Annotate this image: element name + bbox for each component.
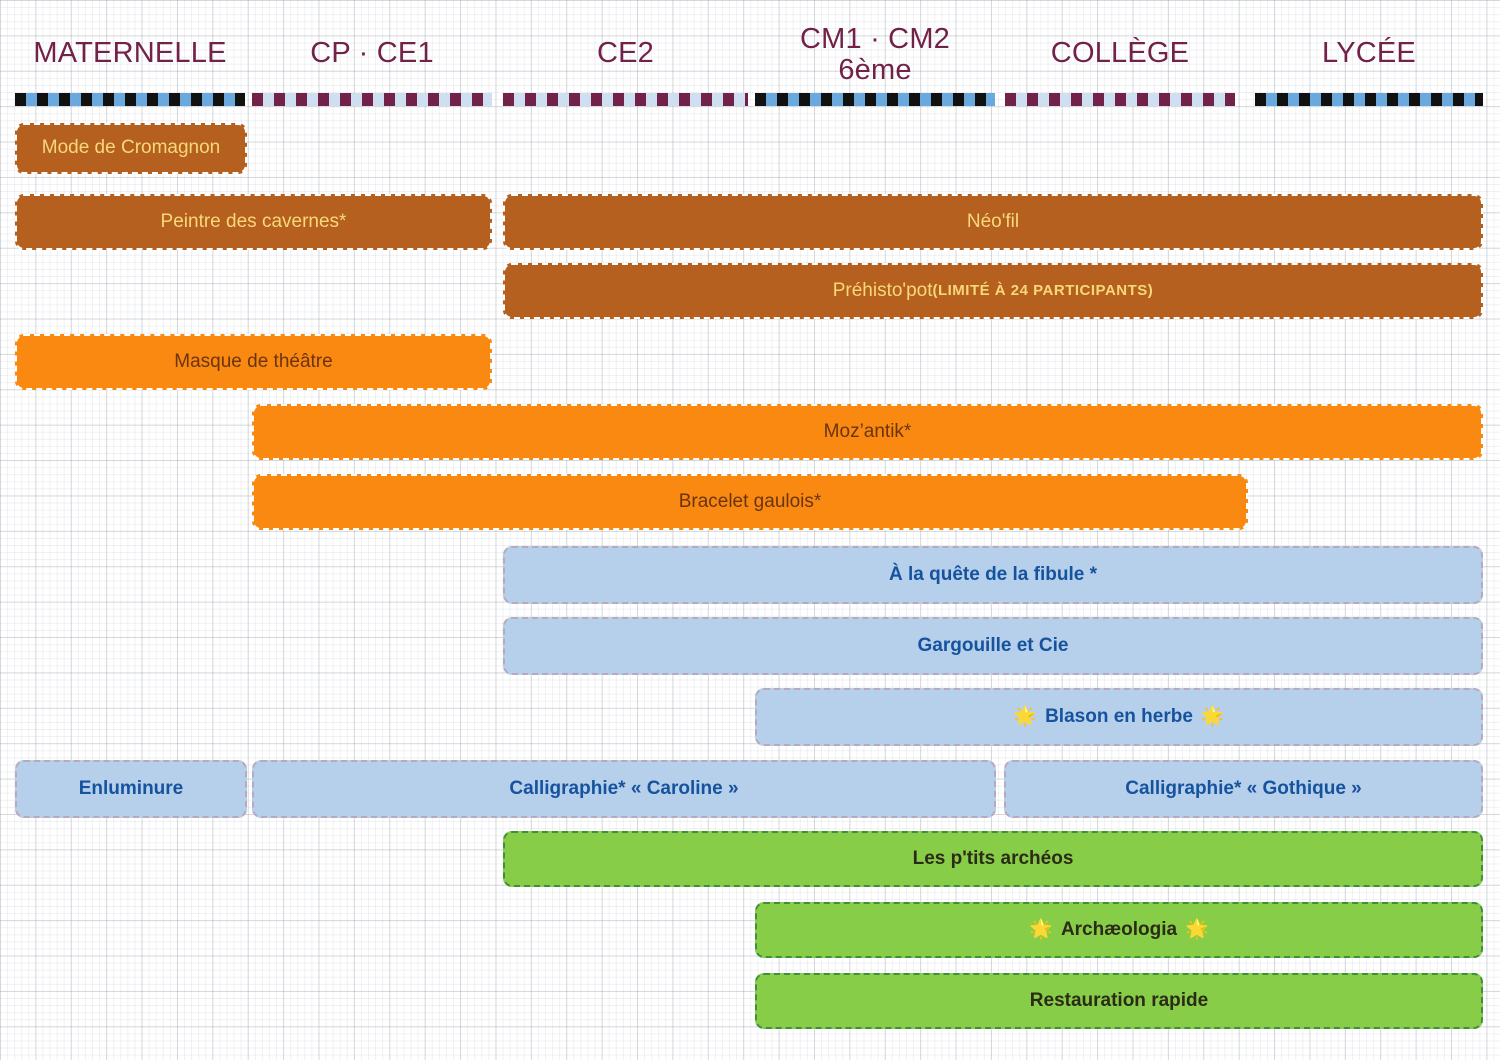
level-label-0: MATERNELLE [15,38,245,69]
workshop-bar-label: Blason en herbe [1045,707,1193,728]
workshop-bar-archaeologia[interactable]: 🌟Archæologia🌟 [755,902,1483,958]
workshop-bar-label: Les p'tits archéos [913,849,1074,870]
workshop-bar-bracelet-gaulois[interactable]: Bracelet gaulois* [252,474,1248,530]
workshop-bar-restauration-rapide[interactable]: Restauration rapide [755,973,1483,1029]
star-icon-right: 🌟 [1201,707,1225,728]
workshop-bar-a-la-quete-de-la-fibule[interactable]: À la quête de la fibule * [503,546,1483,604]
level-label-2: CE2 [503,38,748,69]
level-band-3 [755,93,995,106]
workshop-bar-label: Calligraphie* « Caroline » [509,779,738,800]
workshop-bar-mode-de-cromagnon[interactable]: Mode de Cromagnon [15,123,247,174]
workshop-bar-label: Restauration rapide [1030,991,1208,1012]
level-band-1 [252,93,492,106]
level-band-2 [503,93,748,106]
workshop-bar-label: Préhisto'pot [833,281,933,302]
workshop-bar-label: Néo'fil [967,212,1019,233]
workshop-bar-calligraphie-gothique[interactable]: Calligraphie* « Gothique » [1004,760,1483,818]
workshop-bar-les-ptits-archeos[interactable]: Les p'tits archéos [503,831,1483,887]
workshop-bar-calligraphie-caroline[interactable]: Calligraphie* « Caroline » [252,760,996,818]
workshop-bar-label: Masque de théâtre [174,352,332,373]
star-icon-right: 🌟 [1185,920,1209,941]
level-label-3: CM1 · CM2 6ème [755,24,995,86]
workshop-bar-label: Gargouille et Cie [918,636,1069,657]
level-band-5 [1255,93,1483,106]
workshop-bar-label: Mode de Cromagnon [42,138,221,159]
workshop-bar-prehistopot[interactable]: Préhisto'pot (LIMITÉ À 24 PARTICIPANTS) [503,263,1483,319]
star-icon-left: 🌟 [1013,707,1037,728]
workshop-bar-neofil[interactable]: Néo'fil [503,194,1483,250]
workshop-bar-label: Peintre des cavernes* [161,212,347,233]
workshop-bar-label: Bracelet gaulois* [679,492,822,513]
workshop-bar-gargouille-et-cie[interactable]: Gargouille et Cie [503,617,1483,675]
workshop-bar-label: Enluminure [79,779,184,800]
level-label-5: LYCÉE [1255,38,1483,69]
workshop-bar-masque-de-theatre[interactable]: Masque de théâtre [15,334,492,390]
workshop-bar-label: À la quête de la fibule * [889,565,1097,586]
star-icon-left: 🌟 [1029,920,1053,941]
workshop-bar-enluminure[interactable]: Enluminure [15,760,247,818]
workshop-bar-label: Archæologia [1061,920,1177,941]
workshop-bar-peintre-des-cavernes[interactable]: Peintre des cavernes* [15,194,492,250]
workshop-bar-label: Moz’antik* [824,422,912,443]
level-label-1: CP · CE1 [252,38,492,69]
workshop-bar-label: Calligraphie* « Gothique » [1125,779,1362,800]
level-band-4 [1005,93,1235,106]
timeline-stage: MATERNELLECP · CE1CE2CM1 · CM2 6èmeCOLLÈ… [0,0,1500,1060]
level-label-4: COLLÈGE [1005,38,1235,69]
workshop-bar-blason-en-herbe[interactable]: 🌟Blason en herbe🌟 [755,688,1483,746]
workshop-bar-note: (LIMITÉ À 24 PARTICIPANTS) [932,283,1153,300]
level-band-0 [15,93,245,106]
level-header-row: MATERNELLECP · CE1CE2CM1 · CM2 6èmeCOLLÈ… [0,0,1500,88]
workshop-bar-mozantik[interactable]: Moz’antik* [252,404,1483,460]
